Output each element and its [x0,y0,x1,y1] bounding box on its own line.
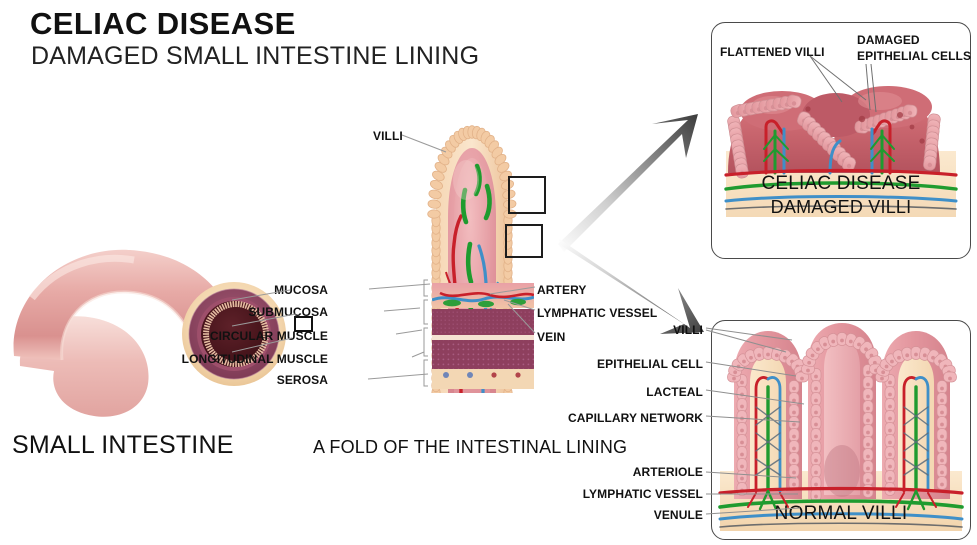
illustration-canvas: CELIAC DISEASE DAMAGED SMALL INTESTINE L… [0,0,977,545]
leader-lines-normal-panel [700,318,830,533]
label-lacteal: LACTEAL [565,385,703,399]
caption-fold: A FOLD OF THE INTESTINAL LINING [313,437,627,458]
page-subtitle: DAMAGED SMALL INTESTINE LINING [31,42,479,71]
fold-zoom-box-lower[interactable] [505,224,543,258]
panel-celiac-caption-line2: DAMAGED VILLI [712,197,970,218]
label-venule: VENULE [565,508,703,522]
label-epithelial-cell: EPITHELIAL CELL [545,357,703,371]
leader-lines-celiac-panel [716,40,906,120]
leader-villi-fold [400,130,460,160]
label-lymphatic-vessel-normal: LYMPHATIC VESSEL [525,487,703,501]
leader-lines-right-vessels [480,278,542,340]
page-title: CELIAC DISEASE [30,6,296,42]
leader-lines-left-layers [232,278,437,390]
label-capillary-network: CAPILLARY NETWORK [525,411,703,425]
label-villi-normal: VILLI [575,323,703,337]
caption-small-intestine: SMALL INTESTINE [12,431,234,460]
label-villi-fold: VILLI [373,129,403,143]
label-arteriole: ARTERIOLE [565,465,703,479]
panel-celiac-caption-line1: CELIAC DISEASE [712,173,970,195]
fold-zoom-box-upper[interactable] [508,176,546,214]
